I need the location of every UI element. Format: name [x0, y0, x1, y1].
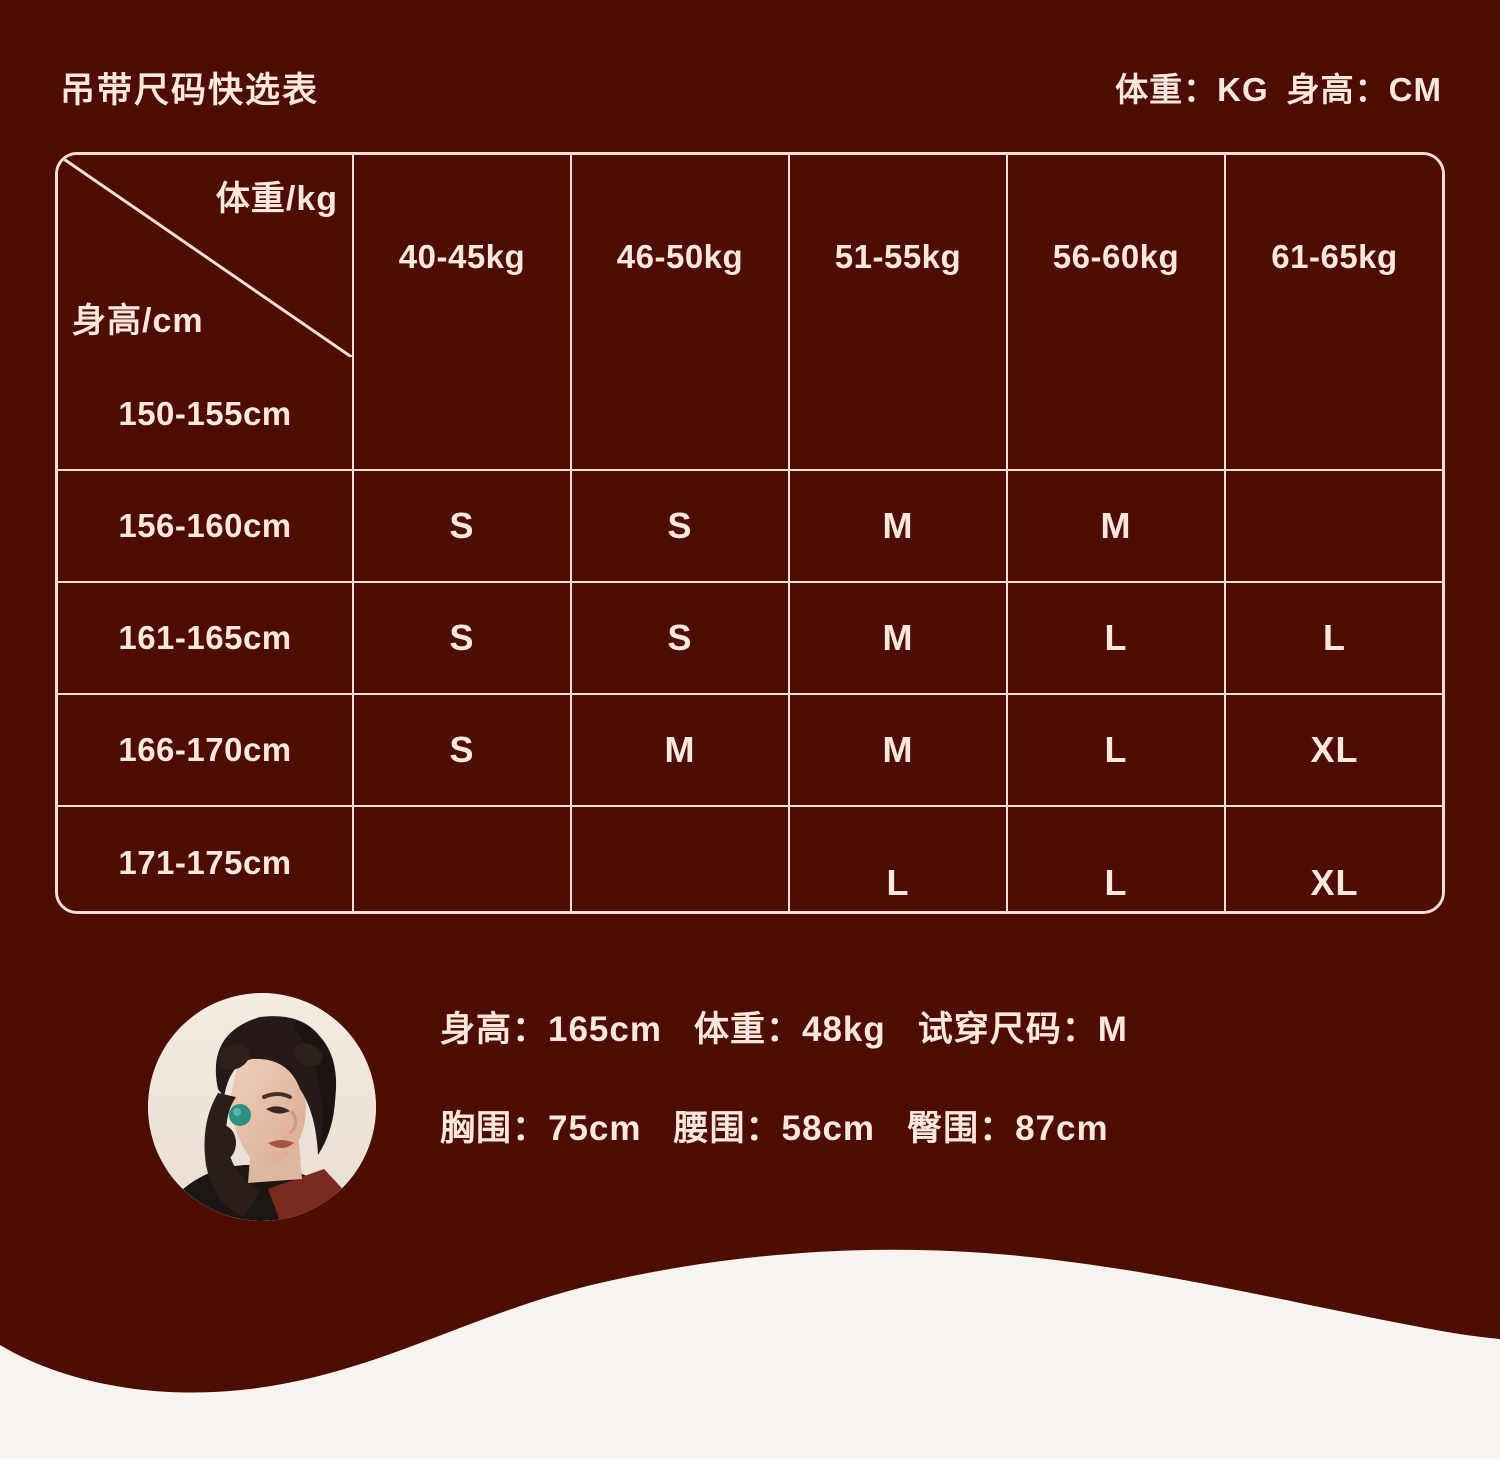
- size-cell: [571, 358, 789, 470]
- size-table-container: 体重/kg 身高/cm 40-45kg 46-50kg 51-55kg 56-6…: [55, 152, 1445, 914]
- column-header-46-50kg: 46-50kg: [571, 155, 789, 358]
- page-title: 吊带尺码快选表: [60, 62, 319, 113]
- size-cell: L: [1007, 582, 1225, 694]
- model-hip: 臀围：87cm: [907, 1109, 1109, 1148]
- size-cell: S: [353, 694, 571, 806]
- column-header-61-65kg: 61-65kg: [1225, 155, 1443, 358]
- size-cell: M: [789, 694, 1007, 806]
- unit-weight-label: 体重：KG: [1115, 71, 1269, 108]
- avatar: [148, 993, 376, 1221]
- table-header-row: 体重/kg 身高/cm 40-45kg 46-50kg 51-55kg 56-6…: [58, 155, 1443, 358]
- corner-weight-label: 体重/kg: [216, 171, 338, 220]
- table-row: 161-165cm S S M L L: [58, 582, 1443, 694]
- size-table: 体重/kg 身高/cm 40-45kg 46-50kg 51-55kg 56-6…: [58, 155, 1443, 914]
- row-header-166-170cm: 166-170cm: [58, 694, 353, 806]
- row-header-161-165cm: 161-165cm: [58, 582, 353, 694]
- unit-legend: 体重：KG身高：CM: [1115, 63, 1442, 111]
- table-row: 166-170cm S M M L XL: [58, 694, 1443, 806]
- model-height: 身高：165cm: [440, 1010, 662, 1049]
- size-cell: [353, 358, 571, 470]
- model-weight: 体重：48kg: [694, 1010, 886, 1049]
- model-info-block: 身高：165cm体重：48kg试穿尺码：M 胸围：75cm腰围：58cm臀围：8…: [0, 985, 1500, 1245]
- model-waist: 腰围：58cm: [674, 1109, 876, 1148]
- row-header-171-175cm: 171-175cm: [58, 806, 353, 914]
- table-row: 171-175cm L L XL: [58, 806, 1443, 914]
- size-cell: L: [1007, 806, 1225, 914]
- wave-shape-icon: [0, 1249, 1500, 1459]
- table-corner-cell: 体重/kg 身高/cm: [58, 155, 353, 358]
- size-cell: XL: [1225, 694, 1443, 806]
- corner-height-label: 身高/cm: [72, 293, 204, 342]
- table-row: 150-155cm: [58, 358, 1443, 470]
- column-header-56-60kg: 56-60kg: [1007, 155, 1225, 358]
- size-chart-page: 吊带尺码快选表 体重：KG身高：CM 体重/kg 身高/cm: [0, 0, 1500, 1459]
- size-cell: M: [789, 582, 1007, 694]
- column-header-51-55kg: 51-55kg: [789, 155, 1007, 358]
- size-cell: L: [1007, 694, 1225, 806]
- size-cell: S: [571, 582, 789, 694]
- size-cell: S: [353, 582, 571, 694]
- model-try-on-size: 试穿尺码：M: [918, 1010, 1128, 1049]
- row-header-150-155cm: 150-155cm: [58, 358, 353, 470]
- model-line-2: 胸围：75cm腰围：58cm臀围：87cm: [440, 1110, 1450, 1149]
- size-cell: [1225, 470, 1443, 582]
- size-cell: M: [1007, 470, 1225, 582]
- size-cell: [1007, 358, 1225, 470]
- size-cell: L: [789, 806, 1007, 914]
- size-cell: S: [353, 470, 571, 582]
- column-header-40-45kg: 40-45kg: [353, 155, 571, 358]
- size-cell: [1225, 358, 1443, 470]
- size-cell: M: [571, 694, 789, 806]
- table-row: 156-160cm S S M M: [58, 470, 1443, 582]
- size-cell: XL: [1225, 806, 1443, 914]
- model-portrait-icon: [148, 993, 376, 1221]
- row-header-156-160cm: 156-160cm: [58, 470, 353, 582]
- model-bust: 胸围：75cm: [440, 1109, 642, 1148]
- size-cell: M: [789, 470, 1007, 582]
- model-measurements: 身高：165cm体重：48kg试穿尺码：M 胸围：75cm腰围：58cm臀围：8…: [440, 1011, 1450, 1148]
- size-cell: S: [571, 470, 789, 582]
- unit-height-label: 身高：CM: [1287, 71, 1442, 108]
- model-line-1: 身高：165cm体重：48kg试穿尺码：M: [440, 1011, 1450, 1050]
- size-cell: L: [1225, 582, 1443, 694]
- size-cell: [789, 358, 1007, 470]
- size-cell: [353, 806, 571, 914]
- bottom-wave-divider: [0, 1249, 1500, 1459]
- size-cell: [571, 806, 789, 914]
- chart-header: 吊带尺码快选表 体重：KG身高：CM: [0, 58, 1500, 116]
